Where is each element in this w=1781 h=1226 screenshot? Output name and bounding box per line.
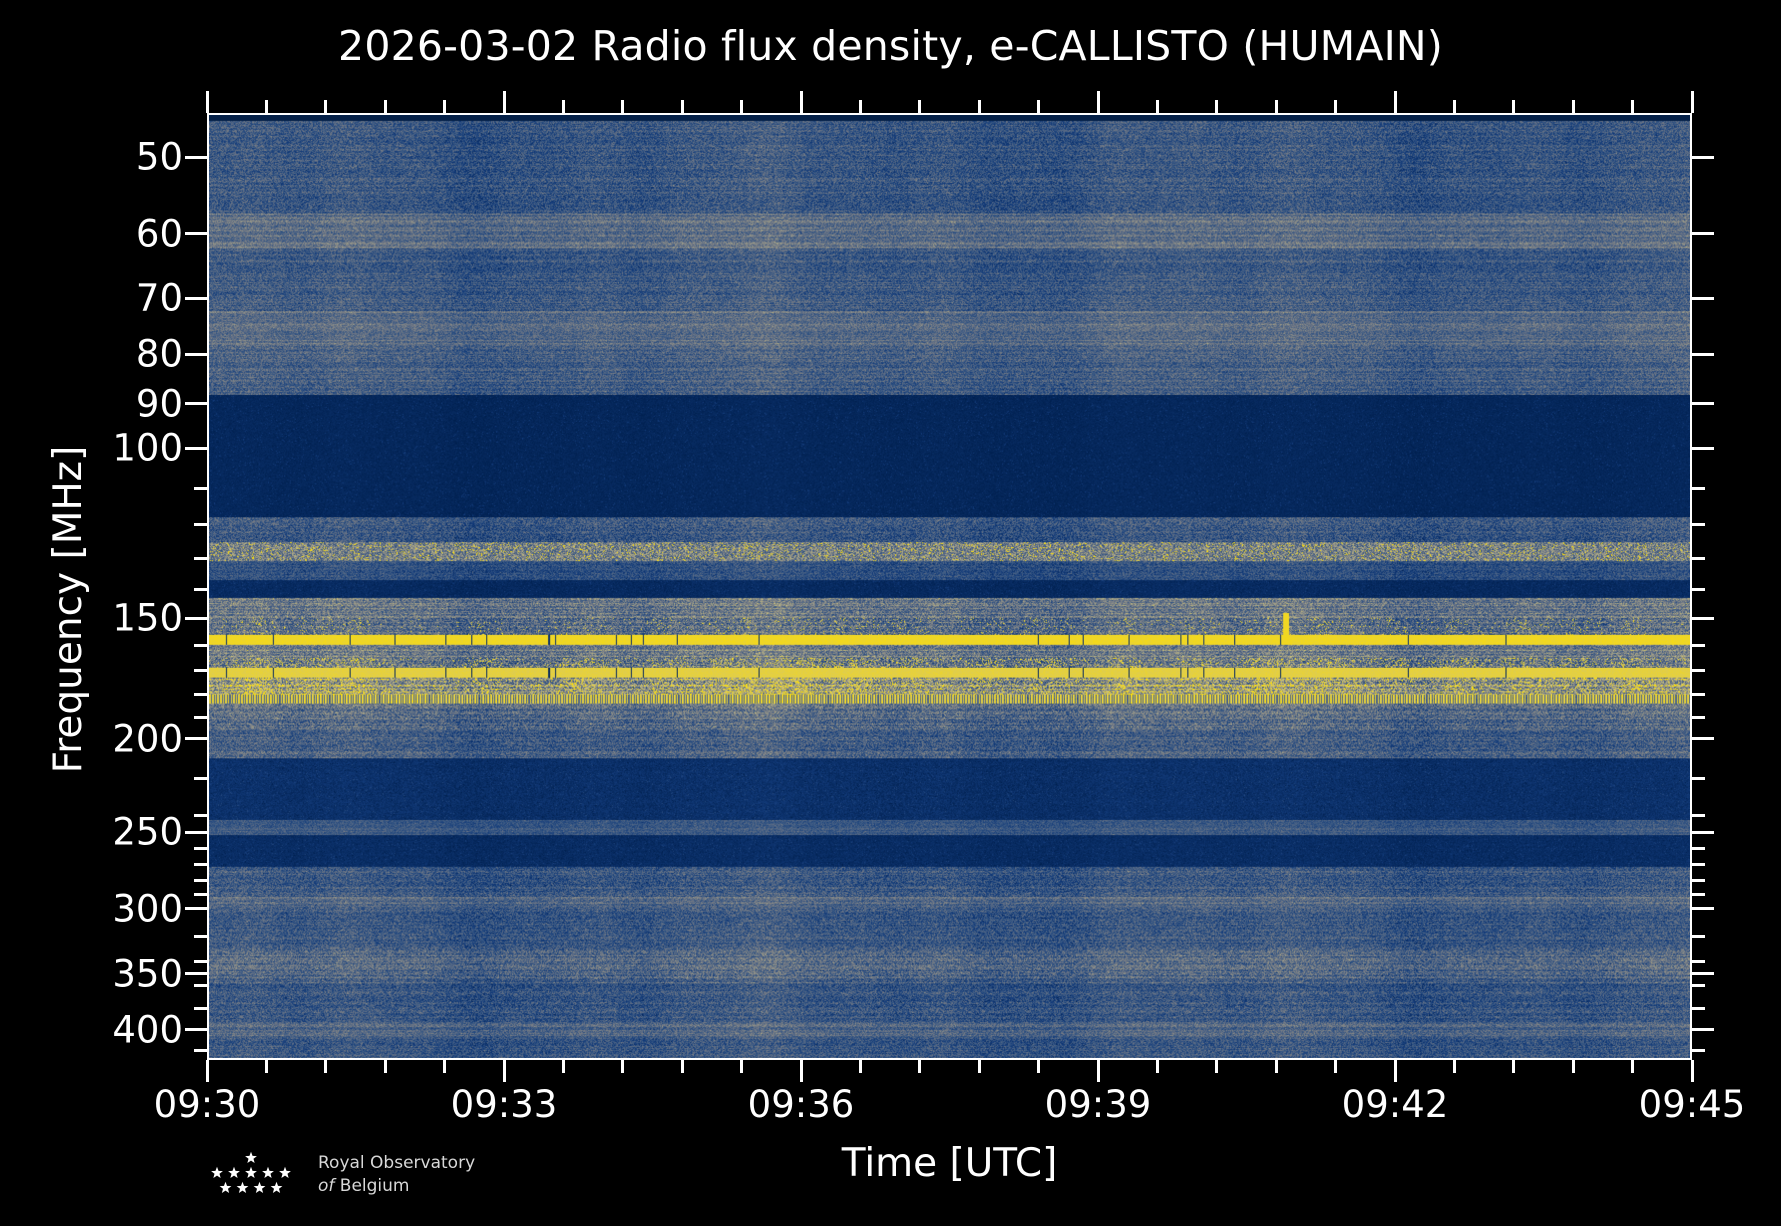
y-tick-label-60: 60	[136, 212, 183, 255]
y-tick-minor-190	[194, 716, 207, 719]
y-tick-minor-130	[194, 557, 207, 560]
stars-icon	[196, 1148, 306, 1200]
y-tick-major-right-90	[1692, 402, 1714, 405]
y-tick-minor-right-170	[1692, 669, 1705, 672]
x-tick-major-1	[503, 1060, 506, 1082]
x-tick-label-5: 09:45	[1639, 1083, 1746, 1126]
y-tick-minor-right-130	[1692, 557, 1705, 560]
y-tick-label-100: 100	[112, 427, 183, 470]
y-tick-minor-right-280	[1692, 879, 1705, 882]
x-tick-minor-top-2-4	[1037, 100, 1040, 113]
logo-text: Royal Observatory of Belgium	[318, 1152, 608, 1198]
x-tick-minor-3-3	[1275, 1060, 1278, 1073]
y-tick-label-70: 70	[136, 277, 183, 320]
x-tick-minor-top-0-4	[443, 100, 446, 113]
y-tick-label-400: 400	[112, 1008, 183, 1051]
x-tick-label-3: 09:39	[1045, 1083, 1152, 1126]
x-tick-minor-0-2	[324, 1060, 327, 1073]
y-tick-minor-right-380	[1692, 1007, 1705, 1010]
x-tick-label-4: 09:42	[1342, 1083, 1449, 1126]
x-tick-minor-4-1	[1453, 1060, 1456, 1073]
y-tick-minor-right-360	[1692, 984, 1705, 987]
spectrogram-plot-area[interactable]	[207, 113, 1692, 1060]
x-tick-major-0	[206, 1060, 209, 1082]
y-tick-major-right-150	[1692, 617, 1714, 620]
x-tick-major-top-3	[1097, 91, 1100, 113]
x-tick-major-top-2	[800, 91, 803, 113]
x-tick-minor-3-2	[1215, 1060, 1218, 1073]
y-tick-minor-right-420	[1692, 1049, 1705, 1052]
y-tick-major-350	[185, 972, 207, 975]
y-tick-major-right-250	[1692, 831, 1714, 834]
y-tick-major-right-300	[1692, 907, 1714, 910]
y-tick-minor-110	[194, 487, 207, 490]
y-tick-minor-right-270	[1692, 863, 1705, 866]
x-tick-label-2: 09:36	[748, 1083, 855, 1126]
y-tick-major-right-100	[1692, 447, 1714, 450]
y-tick-major-60	[185, 232, 207, 235]
x-tick-major-2	[800, 1060, 803, 1082]
y-tick-minor-right-120	[1692, 523, 1705, 526]
x-tick-minor-2-4	[1037, 1060, 1040, 1073]
y-tick-label-150: 150	[112, 597, 183, 640]
y-tick-major-right-50	[1692, 156, 1714, 159]
y-tick-major-70	[185, 297, 207, 300]
page-title: 2026-03-02 Radio flux density, e-CALLIST…	[0, 22, 1781, 70]
x-tick-minor-1-3	[681, 1060, 684, 1073]
y-tick-minor-180	[194, 693, 207, 696]
y-tick-minor-right-160	[1692, 644, 1705, 647]
y-tick-label-50: 50	[136, 136, 183, 179]
x-tick-minor-2-3	[978, 1060, 981, 1073]
x-tick-major-top-1	[503, 91, 506, 113]
y-tick-minor-170	[194, 669, 207, 672]
y-tick-minor-280	[194, 879, 207, 882]
y-tick-label-250: 250	[112, 811, 183, 854]
y-tick-minor-right-290	[1692, 893, 1705, 896]
x-tick-minor-top-4-1	[1453, 100, 1456, 113]
y-tick-minor-right-260	[1692, 847, 1705, 850]
x-tick-major-4	[1394, 1060, 1397, 1082]
y-tick-minor-260	[194, 847, 207, 850]
y-tick-minor-340	[194, 960, 207, 963]
y-tick-minor-right-190	[1692, 716, 1705, 719]
y-tick-minor-right-320	[1692, 935, 1705, 938]
x-tick-major-top-0	[206, 91, 209, 113]
x-tick-minor-top-4-2	[1512, 100, 1515, 113]
y-tick-minor-290	[194, 893, 207, 896]
y-tick-major-50	[185, 156, 207, 159]
x-tick-minor-top-2-3	[978, 100, 981, 113]
x-tick-minor-4-2	[1512, 1060, 1515, 1073]
y-tick-major-right-400	[1692, 1028, 1714, 1031]
y-tick-label-350: 350	[112, 952, 183, 995]
y-tick-minor-right-180	[1692, 693, 1705, 696]
x-tick-minor-top-1-2	[621, 100, 624, 113]
spectrogram-page: 2026-03-02 Radio flux density, e-CALLIST…	[0, 0, 1781, 1226]
y-tick-label-80: 80	[136, 333, 183, 376]
y-tick-minor-120	[194, 523, 207, 526]
y-tick-major-right-80	[1692, 353, 1714, 356]
y-tick-minor-420	[194, 1049, 207, 1052]
x-tick-minor-0-3	[384, 1060, 387, 1073]
y-tick-major-right-70	[1692, 297, 1714, 300]
y-tick-label-300: 300	[112, 887, 183, 930]
y-axis-title: Frequency [MHz]	[46, 136, 91, 1083]
y-tick-major-400	[185, 1028, 207, 1031]
y-tick-major-right-60	[1692, 232, 1714, 235]
x-tick-minor-3-1	[1156, 1060, 1159, 1073]
x-tick-major-3	[1097, 1060, 1100, 1082]
x-tick-minor-top-3-1	[1156, 100, 1159, 113]
y-tick-major-200	[185, 737, 207, 740]
y-tick-minor-right-240	[1692, 814, 1705, 817]
x-tick-minor-top-3-2	[1215, 100, 1218, 113]
x-tick-minor-0-4	[443, 1060, 446, 1073]
y-tick-major-right-350	[1692, 972, 1714, 975]
y-tick-minor-270	[194, 863, 207, 866]
y-tick-minor-380	[194, 1007, 207, 1010]
x-tick-major-top-4	[1394, 91, 1397, 113]
x-tick-minor-4-3	[1572, 1060, 1575, 1073]
logo-belgium: Belgium	[340, 1176, 410, 1196]
y-tick-minor-140	[194, 588, 207, 591]
logo-of: of	[318, 1176, 334, 1196]
logo-line-2: of Belgium	[318, 1175, 608, 1198]
x-tick-minor-1-4	[740, 1060, 743, 1073]
y-tick-major-300	[185, 907, 207, 910]
y-tick-major-90	[185, 402, 207, 405]
royal-observatory-logo: Royal Observatory of Belgium	[196, 1148, 616, 1210]
x-tick-minor-2-2	[918, 1060, 921, 1073]
y-tick-minor-160	[194, 644, 207, 647]
x-tick-minor-1-1	[562, 1060, 565, 1073]
spectrogram-heatmap[interactable]	[209, 115, 1690, 1058]
x-tick-minor-top-1-1	[562, 100, 565, 113]
x-tick-minor-top-4-3	[1572, 100, 1575, 113]
x-tick-minor-2-1	[859, 1060, 862, 1073]
y-tick-major-80	[185, 353, 207, 356]
y-tick-major-150	[185, 617, 207, 620]
x-tick-minor-top-4-4	[1631, 100, 1634, 113]
y-tick-major-250	[185, 831, 207, 834]
x-tick-minor-top-0-3	[384, 100, 387, 113]
y-tick-minor-right-340	[1692, 960, 1705, 963]
logo-line-1: Royal Observatory	[318, 1152, 608, 1175]
y-tick-minor-right-220	[1692, 777, 1705, 780]
y-tick-label-200: 200	[112, 717, 183, 760]
x-tick-label-0: 09:30	[154, 1083, 261, 1126]
x-tick-label-1: 09:33	[451, 1083, 558, 1126]
x-tick-minor-top-1-3	[681, 100, 684, 113]
y-tick-minor-right-110	[1692, 487, 1705, 490]
x-tick-minor-1-2	[621, 1060, 624, 1073]
x-tick-minor-top-0-2	[324, 100, 327, 113]
y-tick-minor-right-140	[1692, 588, 1705, 591]
x-tick-minor-top-2-2	[918, 100, 921, 113]
x-tick-minor-3-4	[1334, 1060, 1337, 1073]
x-tick-minor-top-3-4	[1334, 100, 1337, 113]
y-tick-minor-360	[194, 984, 207, 987]
x-tick-major-top-5	[1691, 91, 1694, 113]
x-tick-minor-top-0-1	[265, 100, 268, 113]
x-tick-major-5	[1691, 1060, 1694, 1082]
x-tick-minor-4-4	[1631, 1060, 1634, 1073]
x-tick-minor-top-3-3	[1275, 100, 1278, 113]
y-tick-minor-320	[194, 935, 207, 938]
y-tick-major-right-200	[1692, 737, 1714, 740]
y-tick-minor-220	[194, 777, 207, 780]
x-tick-minor-top-1-4	[740, 100, 743, 113]
x-tick-minor-0-1	[265, 1060, 268, 1073]
y-tick-label-90: 90	[136, 382, 183, 425]
y-tick-minor-240	[194, 814, 207, 817]
x-tick-minor-top-2-1	[859, 100, 862, 113]
y-tick-major-100	[185, 447, 207, 450]
